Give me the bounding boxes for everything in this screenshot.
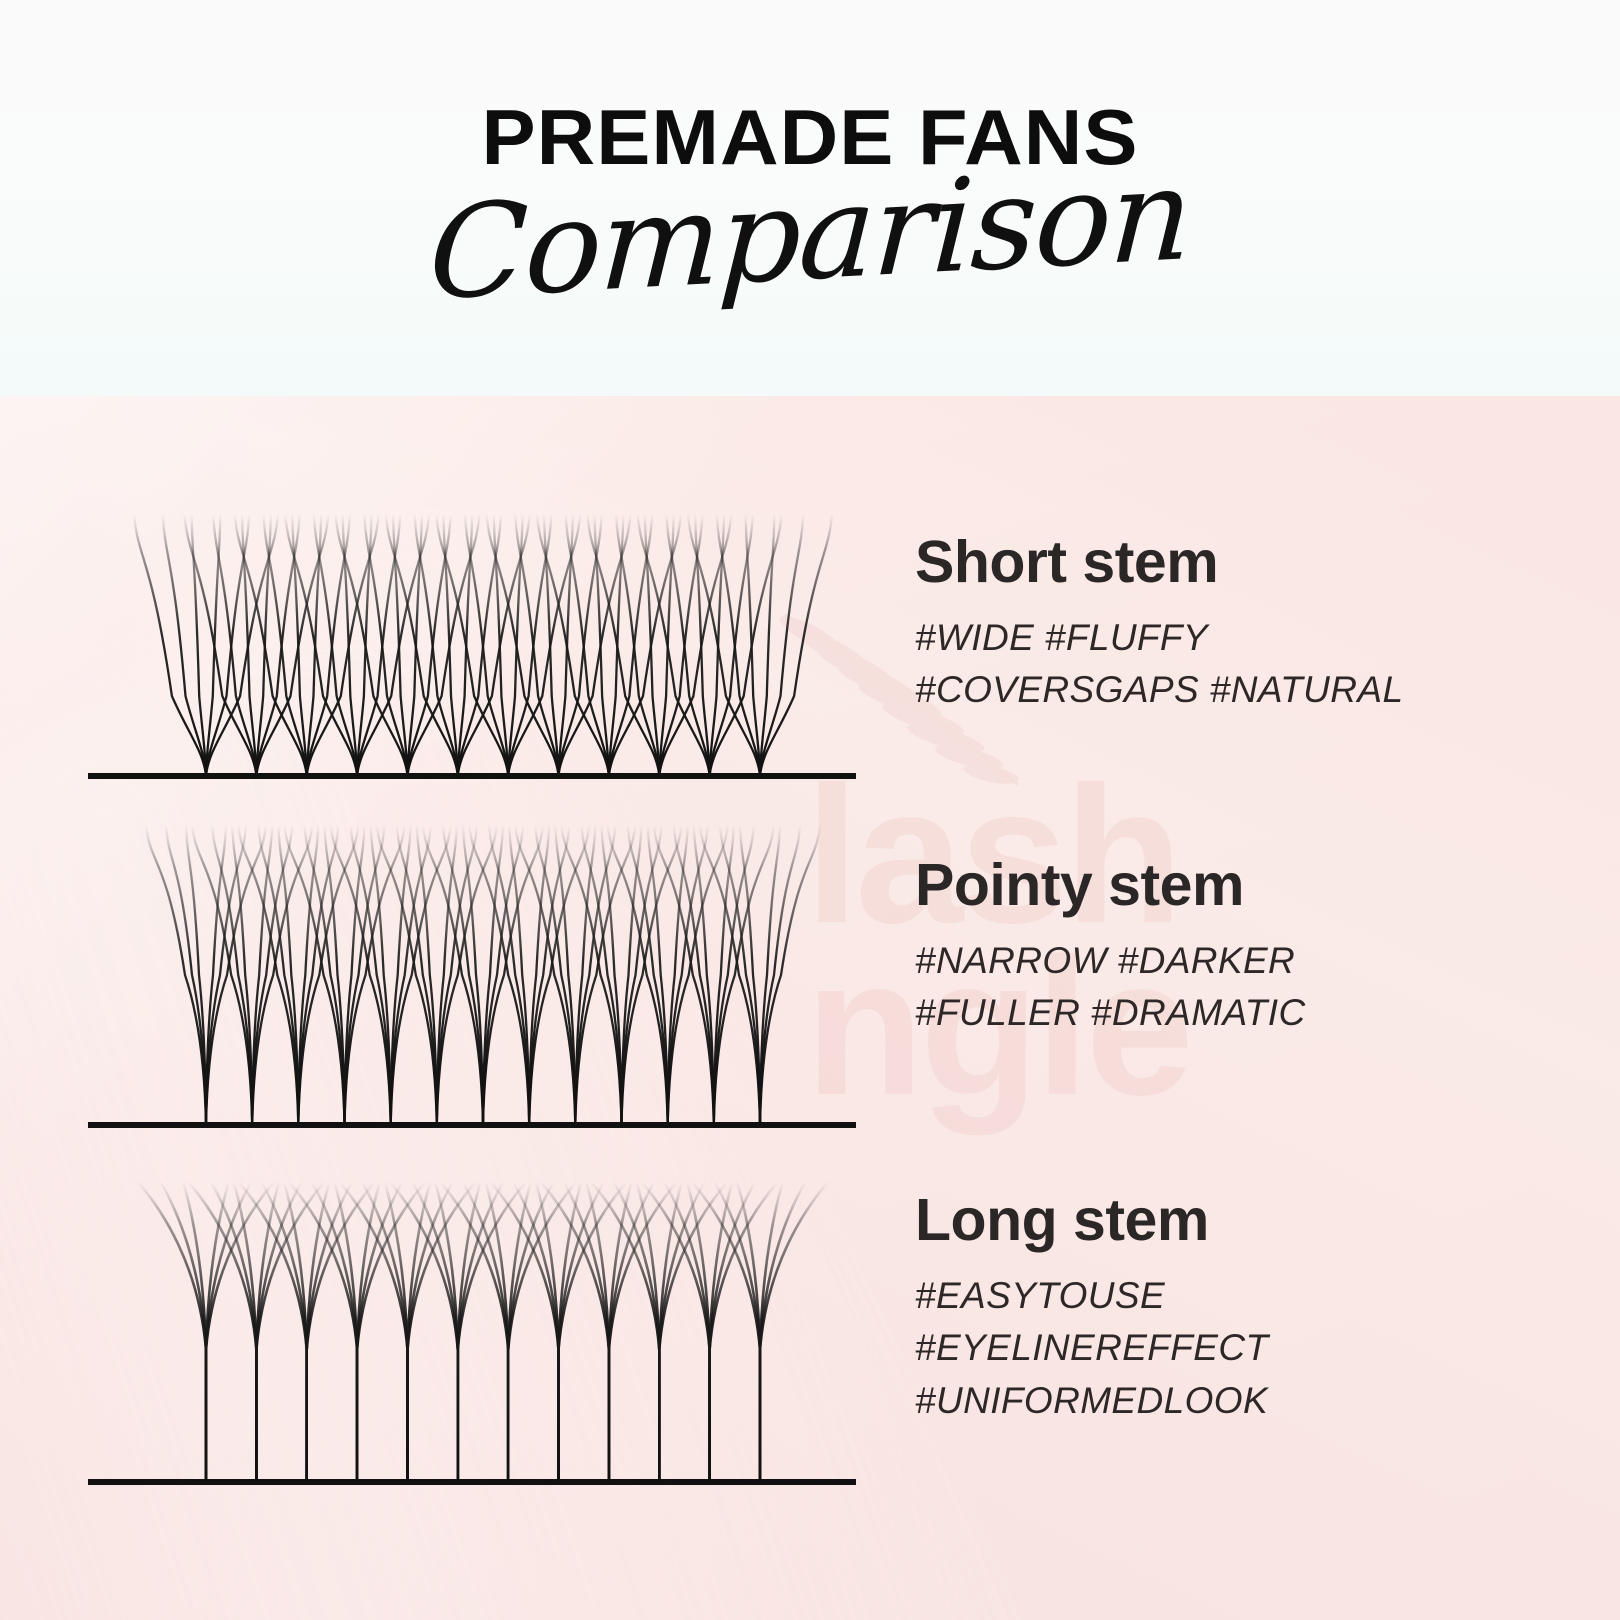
heading-long-stem: Long stem <box>915 1190 1268 1252</box>
tag-line: #WIDE #FLUFFY <box>915 612 1403 665</box>
lash-strand <box>559 1182 627 1482</box>
tags-long-stem: #EASYTOUSE #EYELINEREFFECT #UNIFORMEDLOO… <box>915 1270 1268 1428</box>
lash-strand <box>307 1182 375 1482</box>
tag-line: #COVERSGAPS #NATURAL <box>915 664 1403 717</box>
lash-strand <box>710 1182 778 1482</box>
tags-pointy-stem: #NARROW #DARKER #FULLER #DRAMATIC <box>915 935 1306 1040</box>
lash-strand <box>458 1182 481 1482</box>
lash-strand <box>408 1182 431 1482</box>
lash-strand <box>642 1182 710 1482</box>
lash-strip-baseline <box>88 1479 856 1485</box>
lash-strand <box>541 1182 609 1482</box>
lash-strand <box>760 1182 805 1482</box>
lash-strand <box>586 1182 609 1482</box>
lash-strand <box>637 1182 660 1482</box>
lash-strand <box>408 1182 476 1482</box>
info-block-pointy-stem: Pointy stem #NARROW #DARKER #FULLER #DRA… <box>915 855 1306 1040</box>
info-block-short-stem: Short stem #WIDE #FLUFFY #COVERSGAPS #NA… <box>915 532 1403 717</box>
lash-strand <box>183 1182 206 1482</box>
lash-strand <box>206 1182 229 1482</box>
lash-strand <box>307 1182 330 1482</box>
lash-strand <box>609 1182 677 1482</box>
lash-strand <box>536 1182 559 1482</box>
page-subtitle-wrap: Comparison <box>0 160 1620 309</box>
lash-strand <box>284 1182 307 1482</box>
lash-strand <box>161 1182 206 1482</box>
lash-strip-baseline <box>88 773 856 779</box>
lash-fan-illustration <box>88 1166 878 1496</box>
lash-strand <box>591 1182 659 1482</box>
heading-pointy-stem: Pointy stem <box>915 855 1306 917</box>
lash-fan-row-pointy-stem <box>88 809 878 1139</box>
lash-strand <box>256 1182 279 1482</box>
tag-line: #NARROW #DARKER <box>915 935 1306 988</box>
lash-strand <box>760 514 803 776</box>
lash-strand <box>609 1182 632 1482</box>
lash-strand <box>760 1182 783 1482</box>
lash-strand <box>692 1182 760 1482</box>
lash-strand <box>760 514 832 776</box>
lash-strand <box>440 1182 508 1482</box>
lash-strand <box>239 1182 307 1482</box>
lash-strand <box>559 1182 582 1482</box>
lash-strand <box>206 1182 274 1482</box>
lash-strand <box>192 514 206 776</box>
lash-strand <box>760 1182 828 1482</box>
lash-strand <box>486 1182 509 1482</box>
lash-strand <box>188 1182 256 1482</box>
lash-strand <box>340 1182 408 1482</box>
lash-strand <box>737 1182 760 1482</box>
lash-strand <box>508 1182 531 1482</box>
lash-strand <box>760 514 774 776</box>
tag-line: #FULLER #DRAMATIC <box>915 987 1306 1040</box>
lash-strand <box>659 1182 727 1482</box>
lash-fan-illustration <box>88 498 878 790</box>
lash-strand <box>491 1182 559 1482</box>
lash-fan-illustration <box>88 809 878 1139</box>
tag-line: #UNIFORMEDLOOK <box>915 1375 1268 1428</box>
lash-strand <box>357 1182 380 1482</box>
lash-strand <box>234 1182 257 1482</box>
lash-strand <box>390 1182 458 1482</box>
info-block-long-stem: Long stem #EASYTOUSE #EYELINEREFFECT #UN… <box>915 1190 1268 1428</box>
lash-strand <box>357 1182 425 1482</box>
lash-strip-baseline <box>88 1122 856 1128</box>
lash-strand <box>289 1182 357 1482</box>
lash-strand <box>163 514 206 776</box>
tag-line: #EYELINEREFFECT <box>915 1322 1268 1375</box>
tag-line: #EASYTOUSE <box>915 1270 1268 1323</box>
tags-short-stem: #WIDE #FLUFFY #COVERSGAPS #NATURAL <box>915 612 1403 717</box>
poster-canvas: lashngle PREMADE FANS Comparison Short s… <box>0 0 1620 1620</box>
lash-strand <box>138 1182 206 1482</box>
lash-strand <box>458 1182 526 1482</box>
lash-fan-row-short-stem <box>88 498 878 790</box>
heading-short-stem: Short stem <box>915 532 1403 594</box>
lash-strand <box>710 1182 733 1482</box>
lash-strand <box>385 1182 408 1482</box>
lash-strand <box>134 514 206 776</box>
lash-strand <box>687 1182 710 1482</box>
lash-strand <box>435 1182 458 1482</box>
page-subtitle: Comparison <box>426 140 1195 329</box>
lash-fan-row-long-stem <box>88 1166 878 1496</box>
lash-strand <box>256 1182 324 1482</box>
lash-strand <box>334 1182 357 1482</box>
lash-strand <box>508 1182 576 1482</box>
lash-strand <box>659 1182 682 1482</box>
